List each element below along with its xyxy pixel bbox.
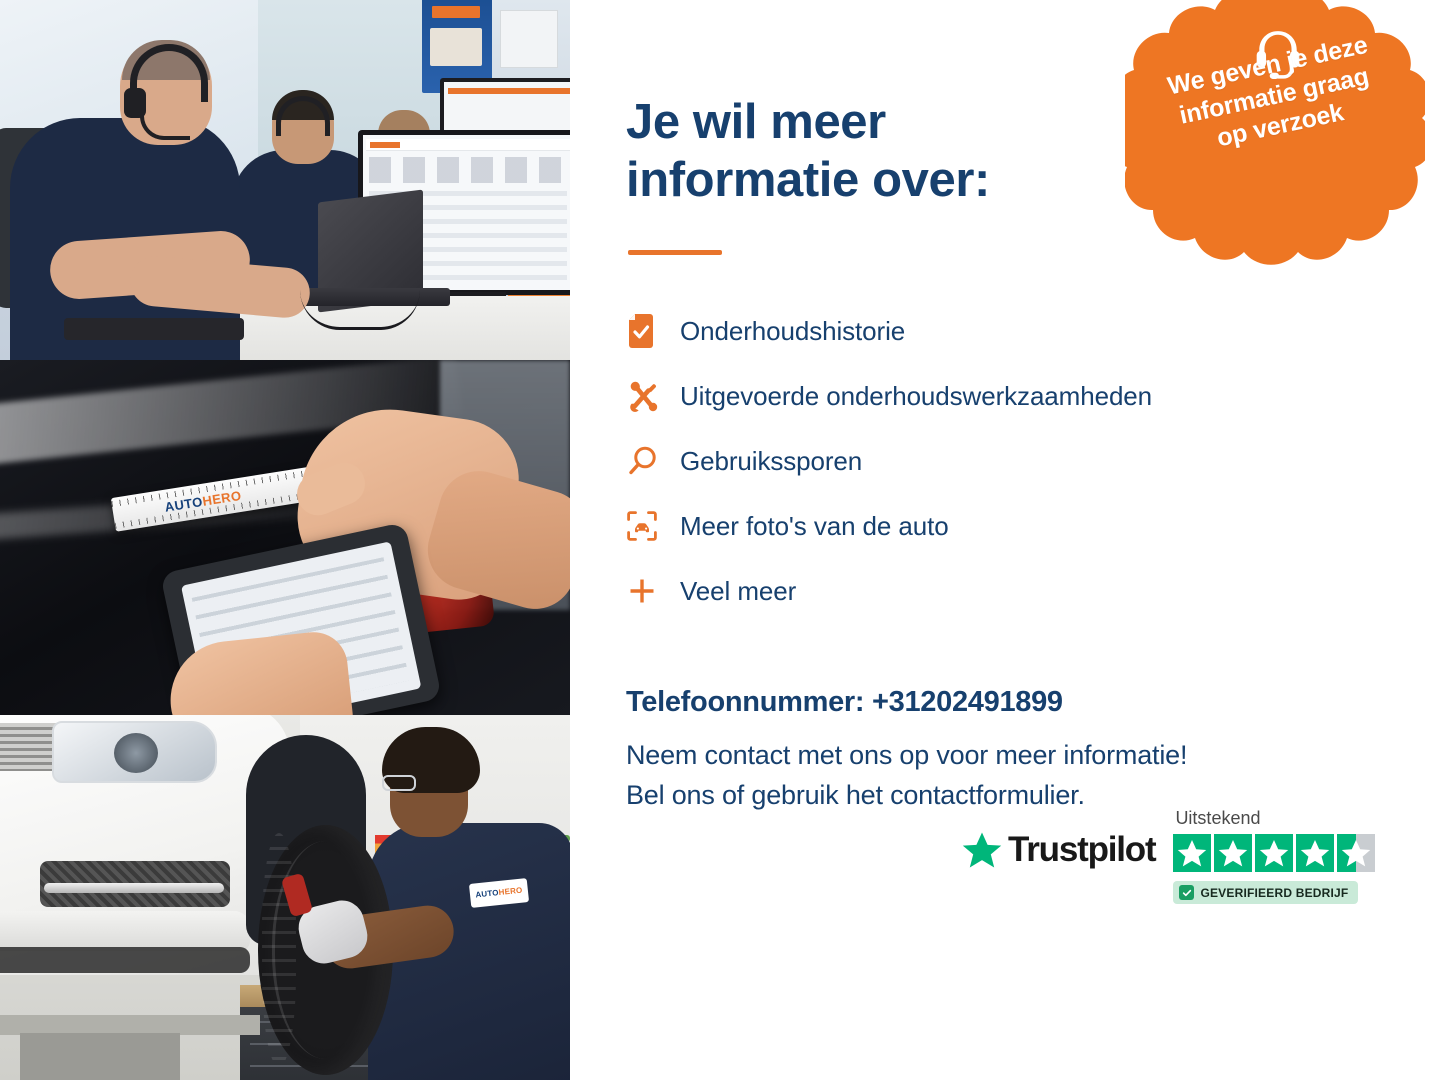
page-title-line-2: informatie over: <box>626 153 990 207</box>
contact-block: Telefoonnummer: +31202491899 Neem contac… <box>626 686 1440 816</box>
page-title-line-1: Je wil meer <box>626 95 886 149</box>
trustpilot-brand-name: Trustpilot <box>1008 830 1155 870</box>
car-chrome-trim <box>44 883 224 893</box>
page-title: Je wil meer informatie over: <box>626 94 1166 210</box>
phone-number[interactable]: Telefoonnummer: +31202491899 <box>626 686 1440 719</box>
contact-line-1: Neem contact met ons op voor meer inform… <box>626 740 1187 770</box>
feature-item-much-more: Veel meer <box>626 559 1440 624</box>
title-divider <box>628 250 722 255</box>
star-3 <box>1255 834 1293 872</box>
feature-label: Uitgevoerde onderhoudswerkzaamheden <box>680 381 1152 412</box>
photo-column: AUTOHERO <box>0 0 570 1080</box>
car-undercarriage <box>0 947 250 973</box>
car-bumper <box>0 911 250 951</box>
tyre-tread <box>262 833 296 1067</box>
request-info-badge: We geven je deze informatie graag op ver… <box>1125 0 1425 268</box>
feature-label: Gebruikssporen <box>680 446 862 477</box>
verified-check-icon <box>1179 885 1194 900</box>
car-lift-platform <box>0 1015 260 1035</box>
trustpilot-stars <box>1173 834 1375 872</box>
promo-page: AUTOHERO <box>0 0 1440 1080</box>
feature-item-more-photos: Meer foto's van de auto <box>626 494 1440 559</box>
car-lift-support <box>20 1033 180 1080</box>
photo-technician-tyre: AUTOHERO <box>0 715 570 1080</box>
trustpilot-rating-label: Uitstekend <box>1175 808 1260 829</box>
contact-line-2: Bel ons of gebruik het contactformulier. <box>626 780 1085 810</box>
feature-item-maintenance-work: Uitgevoerde onderhoudswerkzaamheden <box>626 364 1440 429</box>
trustpilot-logo: Trustpilot <box>962 830 1155 870</box>
feature-label: Meer foto's van de auto <box>680 511 949 542</box>
car-headlamp <box>52 721 217 783</box>
contact-instructions: Neem contact met ons op voor meer inform… <box>626 735 1440 816</box>
feature-item-usage-traces: Gebruikssporen <box>626 429 1440 494</box>
star-1 <box>1173 834 1211 872</box>
plus-icon <box>626 575 680 607</box>
star-2 <box>1214 834 1252 872</box>
photo-paint-inspection: AUTOHERO <box>0 360 570 715</box>
feature-list: Onderhoudshistorie <box>626 299 1440 624</box>
trustpilot-rating-group: Uitstekend GEVERIFIEERD BEDRIJF <box>1173 808 1375 904</box>
magnifier-icon <box>626 445 680 477</box>
feature-label: Veel meer <box>680 576 796 607</box>
photo-callcenter-agents <box>0 0 570 360</box>
feature-item-maintenance-history: Onderhoudshistorie <box>626 299 1440 364</box>
star-5-half <box>1337 834 1375 872</box>
content-panel: Je wil meer informatie over: We geven je… <box>570 0 1440 1080</box>
technician-glasses <box>382 775 416 791</box>
verified-company-badge: GEVERIFIEERD BEDRIJF <box>1173 881 1358 904</box>
wrench-screwdriver-icon <box>626 379 680 413</box>
star-4 <box>1296 834 1334 872</box>
car-scan-icon <box>626 510 680 542</box>
trustpilot-star-icon <box>962 831 1002 869</box>
feature-label: Onderhoudshistorie <box>680 316 905 347</box>
document-check-icon <box>626 314 680 348</box>
wall-poster <box>500 10 558 68</box>
closed-laptop-on-desk <box>64 318 244 340</box>
verified-company-label: GEVERIFIEERD BEDRIJF <box>1200 886 1348 900</box>
trustpilot-widget[interactable]: Trustpilot Uitstekend GEVERIFIEERD BEDRI… <box>962 808 1375 904</box>
